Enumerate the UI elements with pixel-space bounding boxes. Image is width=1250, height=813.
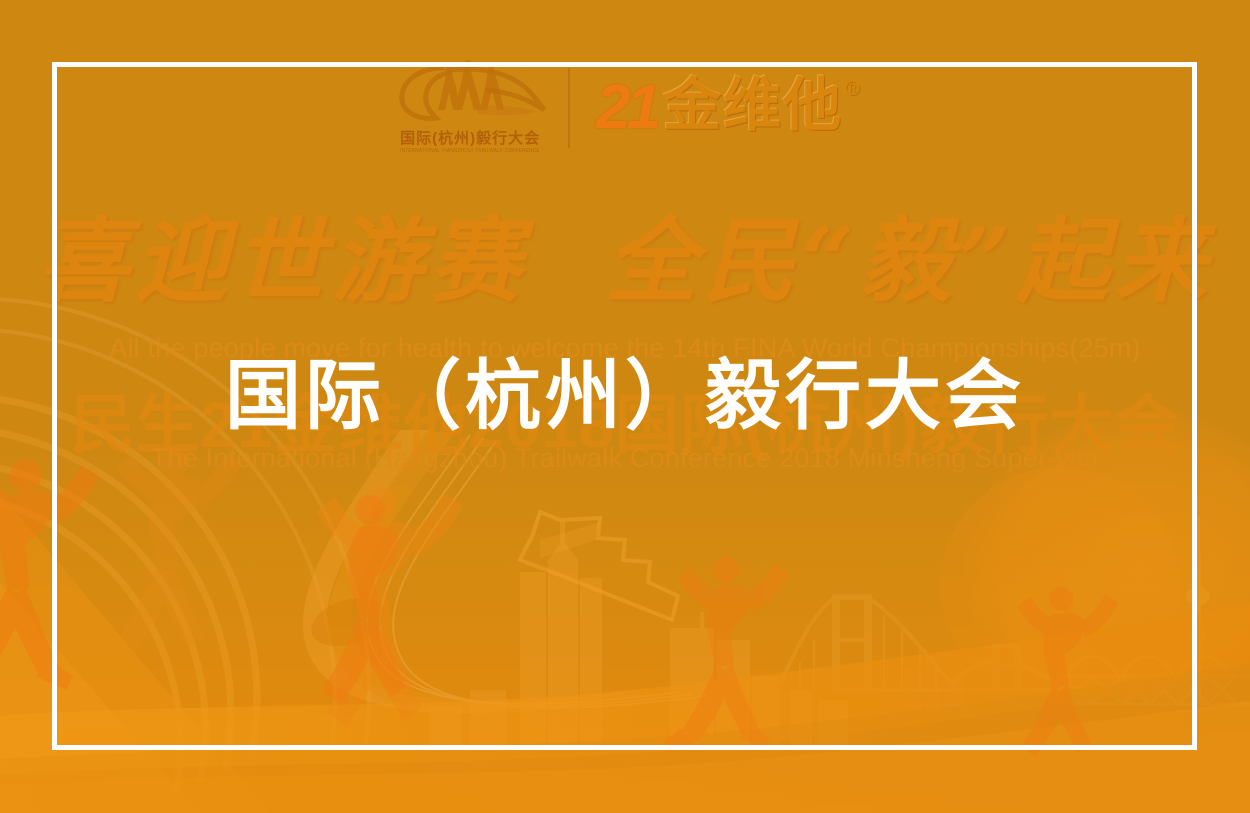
trailwalk-conference-logo: 国际(杭州)毅行大会 INTERNATIONAL (HANGZHOU) TRAI… xyxy=(390,62,550,154)
poster-canvas: 喜迎世游赛 全民“毅”起来 All the people move for he… xyxy=(0,0,1250,813)
trailwalk-logo-english: INTERNATIONAL (HANGZHOU) TRAILWALK CONFE… xyxy=(400,149,540,154)
sponsor-logo: 21 金维他 ® xyxy=(596,77,860,139)
walking-figures-swoosh-icon xyxy=(390,60,550,126)
trailwalk-logo-chinese: 国际(杭州)毅行大会 xyxy=(400,131,540,146)
page-title: 国际（杭州）毅行大会 xyxy=(0,355,1250,439)
logo-divider xyxy=(568,68,570,148)
logo-band: 国际(杭州)毅行大会 INTERNATIONAL (HANGZHOU) TRAI… xyxy=(0,58,1250,158)
sponsor-logo-number: 21 xyxy=(596,77,657,139)
registered-trademark-icon: ® xyxy=(845,79,860,99)
sponsor-logo-chinese: 金维他 xyxy=(663,77,843,135)
